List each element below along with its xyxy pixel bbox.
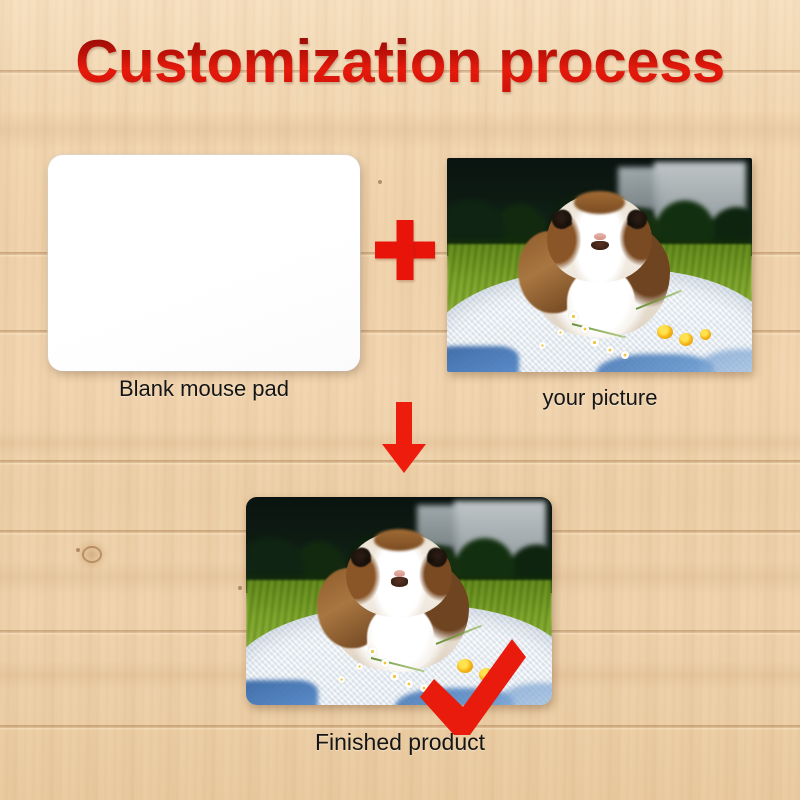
photo-scene [447,158,752,372]
user-picture-photo [447,158,752,372]
guinea-pig-eye-left [364,558,371,563]
infographic-canvas: Customization process Blank mouse pad [0,0,800,800]
guinea-pig-crown [374,529,425,551]
down-arrow-icon [378,400,430,476]
wood-speck [238,586,242,590]
guinea-pig-mouth [591,241,609,251]
daisy-flower [338,676,345,683]
blanket-blue-patch [246,680,318,705]
page-title: Customization process [0,32,800,92]
daisy-flower [557,329,564,336]
guinea-pig-crown [574,191,625,214]
daisy-flower [569,312,578,321]
daisy-flower [539,342,546,349]
wood-knot [82,546,102,563]
wood-speck [76,548,80,552]
guinea-pig-nose [394,570,406,577]
wood-speck [378,180,382,184]
guinea-pig-ear-left [349,545,375,570]
user-picture-caption: your picture [455,387,745,409]
blank-mouse-pad [48,155,360,371]
daisy-flower [621,351,629,359]
blanket-blue-patch [596,354,714,372]
guinea-pig-ear-right [424,545,450,570]
wood-grain-band [0,110,800,150]
guinea-pig [526,194,672,335]
daisy-flower [390,672,399,681]
finished-product-caption: Finished product [200,731,600,754]
blanket-blue-patch [700,349,752,372]
plus-icon [375,220,435,280]
daisy-flower [606,346,614,354]
guinea-pig-eye-right [427,558,434,563]
plank-seam [0,725,800,728]
plus-vertical-bar [397,220,414,280]
guinea-pig-ear-right [624,207,650,232]
guinea-pig-mouth [391,577,409,586]
guinea-pig-head [346,532,452,617]
check-mark-icon [418,635,528,740]
daisy-flower [381,659,389,667]
blank-mouse-pad-caption: Blank mouse pad [24,378,384,400]
guinea-pig-nose [594,233,606,240]
guinea-pig-ear-left [549,207,575,232]
guinea-pig-head [547,194,652,282]
guinea-pig-eye-left [565,221,572,226]
blanket-blue-patch [447,346,519,372]
guinea-pig-eye-right [627,221,634,226]
